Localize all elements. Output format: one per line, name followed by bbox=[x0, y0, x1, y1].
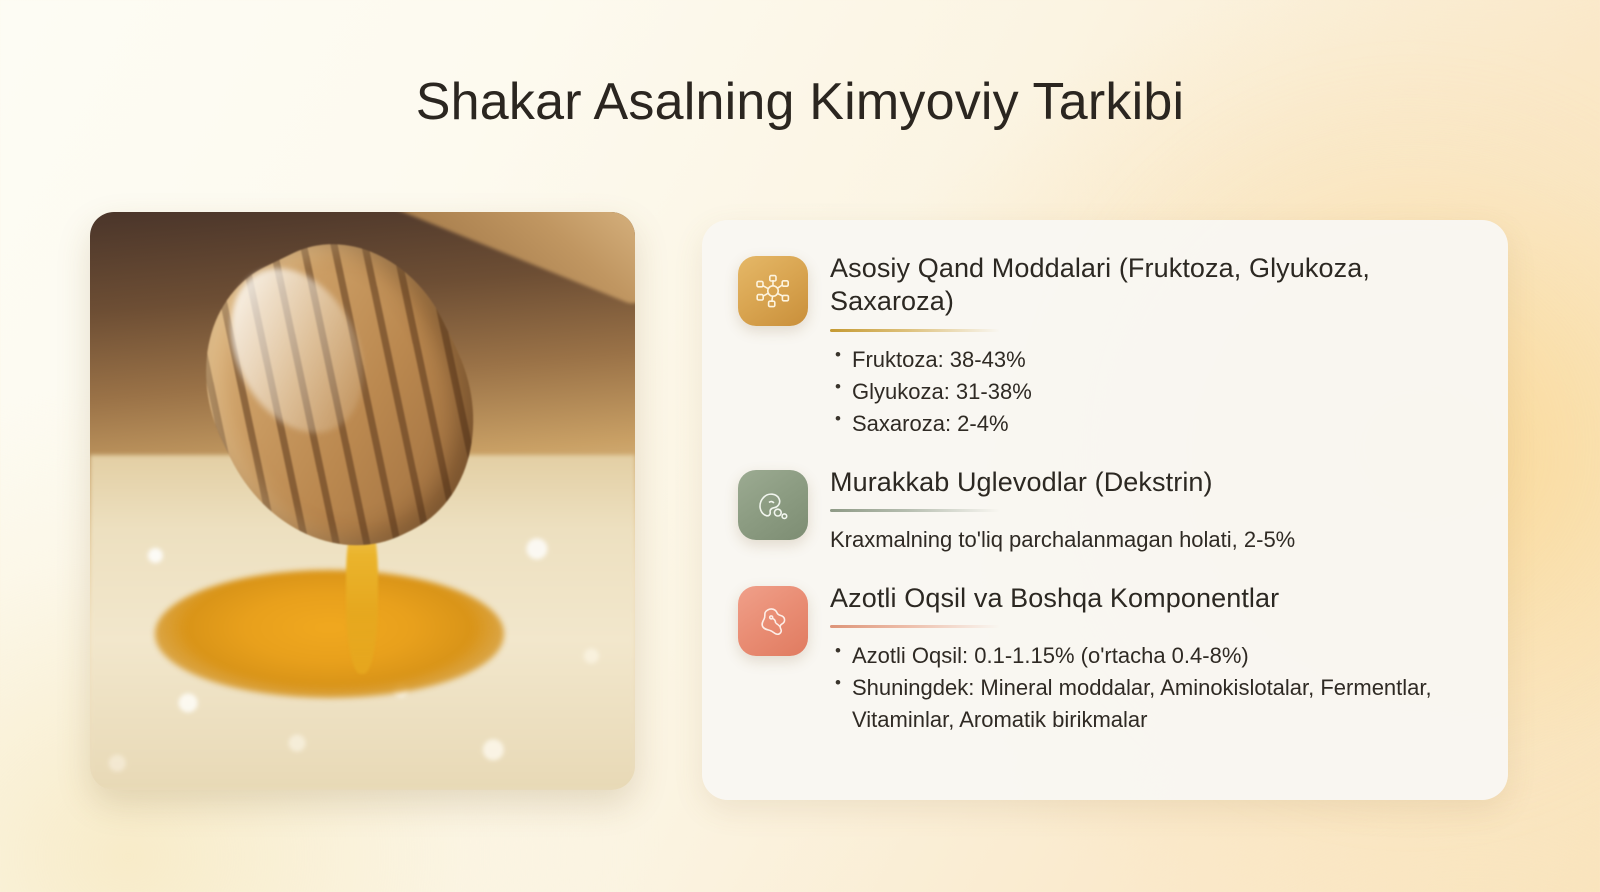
section-description: Kraxmalning to'liq parchalanmagan holati… bbox=[830, 524, 1472, 556]
page-title: Shakar Asalning Kimyoviy Tarkibi bbox=[0, 72, 1600, 132]
list-item: Glyukoza: 31-38% bbox=[830, 376, 1472, 408]
bullet-list: Azotli Oqsil: 0.1-1.15% (o'rtacha 0.4-8%… bbox=[830, 640, 1472, 736]
molecule-icon bbox=[738, 256, 808, 326]
protein-cell-icon bbox=[738, 586, 808, 656]
section-body: Asosiy Qand Moddalari (Fruktoza, Glyukoz… bbox=[830, 252, 1472, 440]
composition-card: Asosiy Qand Moddalari (Fruktoza, Glyukoz… bbox=[702, 220, 1508, 800]
section-divider bbox=[830, 509, 1000, 512]
bullet-list: Fruktoza: 38-43% Glyukoza: 31-38% Saxaro… bbox=[830, 344, 1472, 440]
photo-backdrop bbox=[90, 212, 635, 790]
section-asosiy-qand-moddalari: Asosiy Qand Moddalari (Fruktoza, Glyukoz… bbox=[738, 252, 1472, 440]
list-item: Azotli Oqsil: 0.1-1.15% (o'rtacha 0.4-8%… bbox=[830, 640, 1472, 672]
section-heading: Asosiy Qand Moddalari (Fruktoza, Glyukoz… bbox=[830, 252, 1472, 319]
section-divider bbox=[830, 625, 1000, 628]
list-item: Shuningdek: Mineral moddalar, Aminokislo… bbox=[830, 672, 1472, 736]
list-item: Saxaroza: 2-4% bbox=[830, 408, 1472, 440]
section-heading: Murakkab Uglevodlar (Dekstrin) bbox=[830, 466, 1472, 499]
starch-granule-icon bbox=[738, 470, 808, 540]
section-heading: Azotli Oqsil va Boshqa Komponentlar bbox=[830, 582, 1472, 615]
section-body: Murakkab Uglevodlar (Dekstrin) Kraxmalni… bbox=[830, 466, 1472, 556]
section-body: Azotli Oqsil va Boshqa Komponentlar Azot… bbox=[830, 582, 1472, 736]
honey-pool bbox=[155, 570, 504, 697]
honey-dipper-photo bbox=[90, 212, 635, 790]
section-divider bbox=[830, 329, 1000, 332]
section-azotli-oqsil: Azotli Oqsil va Boshqa Komponentlar Azot… bbox=[738, 582, 1472, 736]
list-item: Fruktoza: 38-43% bbox=[830, 344, 1472, 376]
section-murakkab-uglevodlar: Murakkab Uglevodlar (Dekstrin) Kraxmalni… bbox=[738, 466, 1472, 556]
